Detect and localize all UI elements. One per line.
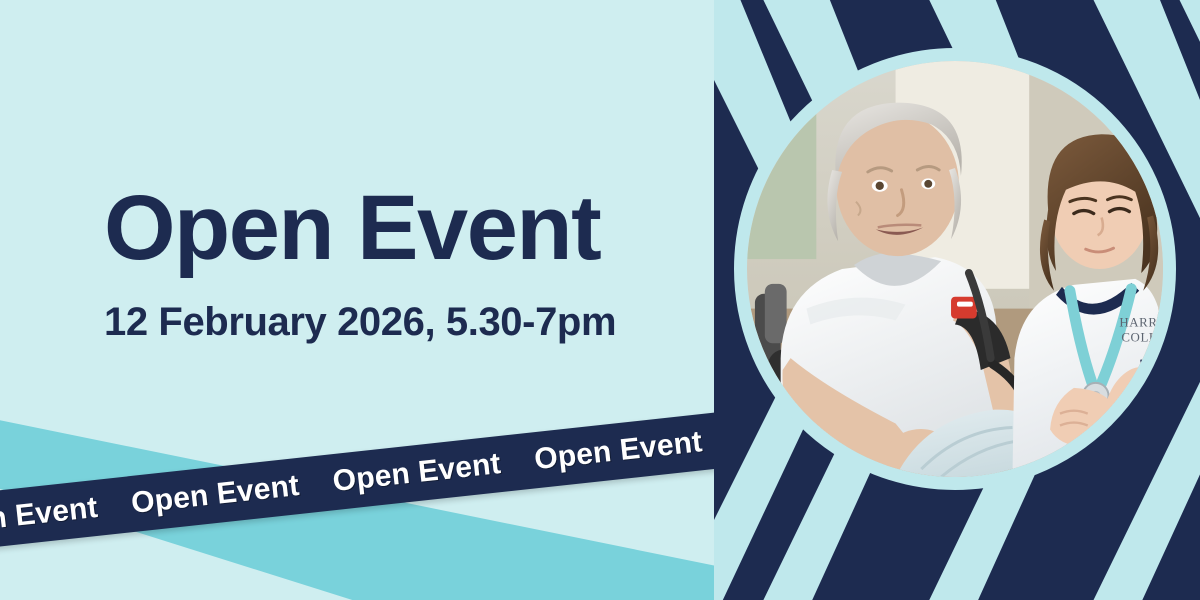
right-image-panel: HARROGATE COLLEGE xyxy=(714,0,1200,600)
uniform-logo-line-1: HARROGATE xyxy=(1119,315,1163,329)
headline-block: Open Event 12 February 2026, 5.30-7pm xyxy=(104,182,684,344)
ribbon-label: Open Event xyxy=(516,423,714,479)
event-photo: HARROGATE COLLEGE xyxy=(734,48,1176,490)
uniform-logo-line-2: COLLEGE xyxy=(1121,330,1163,344)
ribbon-label: Open Event xyxy=(314,445,519,501)
ribbon-label: Open Event xyxy=(113,467,318,523)
page-title: Open Event xyxy=(104,182,684,276)
clinic-photo-illustration: HARROGATE COLLEGE xyxy=(747,61,1163,477)
left-content-panel: Open Event 12 February 2026, 5.30-7pm Op… xyxy=(0,0,714,600)
event-banner: Open Event 12 February 2026, 5.30-7pm Op… xyxy=(0,0,1200,600)
event-photo-inner: HARROGATE COLLEGE xyxy=(747,61,1163,477)
event-date-time: 12 February 2026, 5.30-7pm xyxy=(104,300,684,344)
